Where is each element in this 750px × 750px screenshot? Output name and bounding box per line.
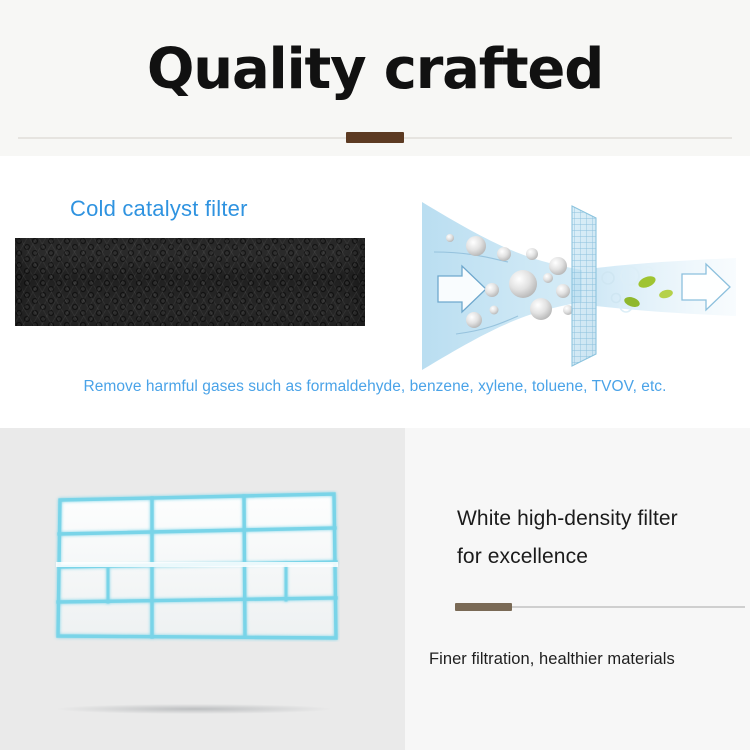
honeycomb-carbon-filter-image: [15, 238, 365, 326]
white-filter-tagline: Finer filtration, healthier materials: [429, 650, 749, 669]
cold-catalyst-section: Cold catalyst filter: [0, 156, 750, 428]
white-filter-heading: White high-density filter for excellence: [457, 500, 737, 576]
white-filter-heading-line1: White high-density filter: [457, 500, 737, 538]
white-filter-heading-line2: for excellence: [457, 538, 737, 576]
white-filter-divider: [455, 603, 745, 611]
white-filter-image-panel: [0, 428, 405, 750]
divider-line-segment: [512, 606, 745, 608]
divider-accent-segment: [455, 603, 512, 611]
white-filter-frame-image: [48, 490, 340, 642]
header-banner: Quality crafted: [0, 0, 750, 156]
cold-catalyst-caption: Remove harmful gases such as formaldehyd…: [0, 378, 750, 396]
airflow-diagram-image: [400, 194, 740, 376]
page-title: Quality crafted: [0, 36, 750, 104]
filter-frame-shadow: [58, 704, 330, 714]
header-accent-bar: [346, 132, 404, 143]
cold-catalyst-heading: Cold catalyst filter: [70, 196, 248, 222]
infographic-page: Quality crafted Cold catalyst filter: [0, 0, 750, 750]
white-filter-text-panel: White high-density filter for excellence…: [405, 428, 750, 750]
